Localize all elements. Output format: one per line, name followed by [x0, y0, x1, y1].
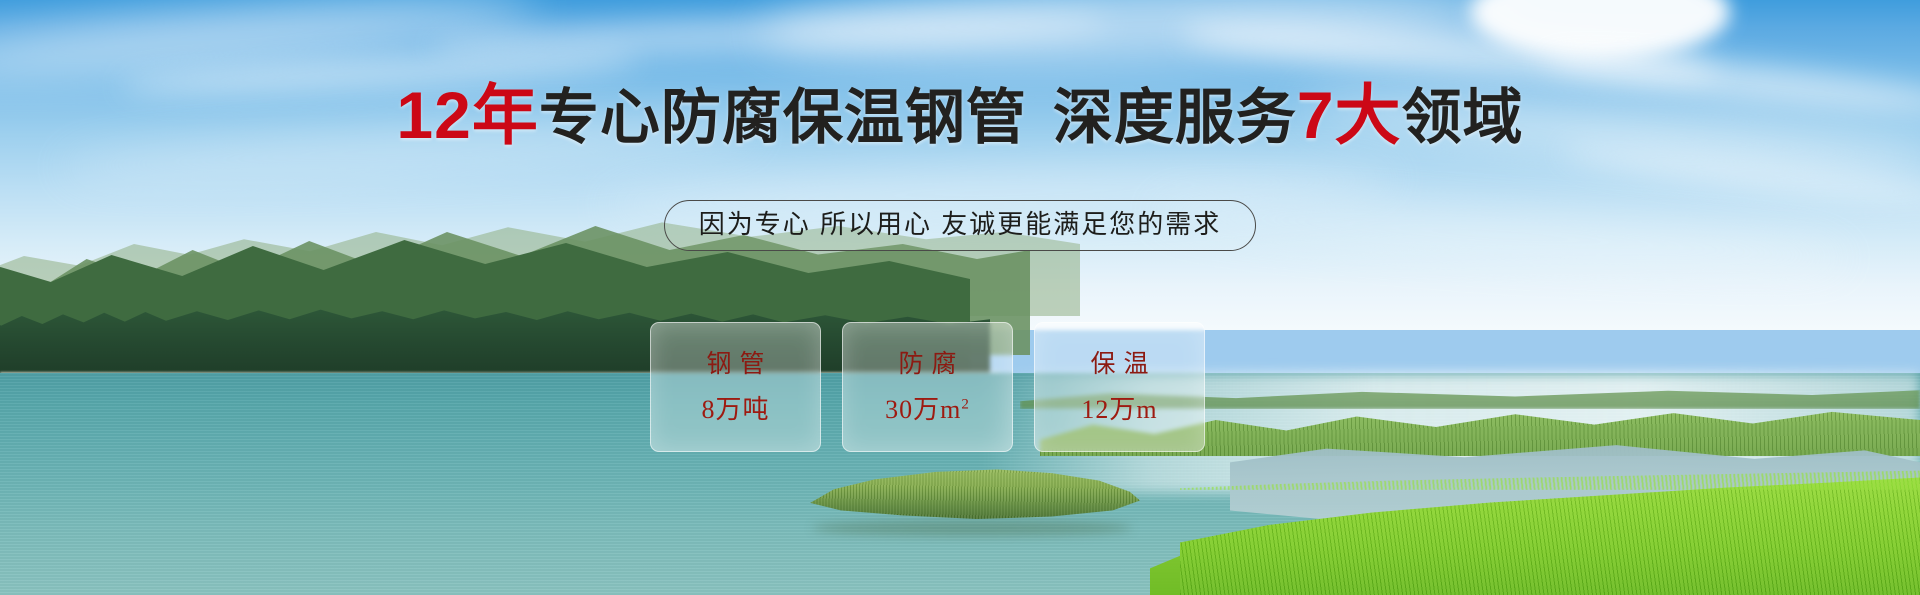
- headline-segment-1: 专心防腐保温钢管: [539, 84, 1027, 151]
- stat-value-text: 8万吨: [701, 395, 769, 424]
- stat-card-steel-pipe: 钢管 8万吨: [650, 322, 821, 452]
- subtitle-container: 因为专心 所以用心 友诚更能满足您的需求: [0, 200, 1920, 251]
- stat-value-text: 12万m: [1081, 395, 1157, 424]
- headline-segment-3: 领域: [1402, 84, 1524, 151]
- stat-value-superscript: 2: [961, 396, 970, 412]
- headline-accent-fields: 7大: [1297, 78, 1402, 152]
- stat-card-anticorrosion: 防腐 30万m2: [842, 322, 1013, 452]
- headline-segment-2: 深度服务: [1053, 84, 1297, 151]
- subtitle-pill: 因为专心 所以用心 友诚更能满足您的需求: [664, 200, 1256, 251]
- promo-banner: 12年专心防腐保温钢管深度服务7大领域 因为专心 所以用心 友诚更能满足您的需求…: [0, 0, 1920, 595]
- stat-card-insulation: 保温 12万m: [1034, 322, 1205, 452]
- headline: 12年专心防腐保温钢管深度服务7大领域: [0, 82, 1920, 148]
- stat-card-title: 钢管: [698, 352, 772, 377]
- stat-card-value: 30万m2: [885, 397, 970, 423]
- stat-card-group: 钢管 8万吨 防腐 30万m2 保温 12万m: [650, 322, 1205, 452]
- stat-card-title: 防腐: [890, 352, 964, 377]
- headline-accent-years: 12年: [396, 78, 538, 152]
- stat-card-title: 保温: [1082, 352, 1156, 377]
- stat-card-value: 8万吨: [701, 397, 769, 423]
- banner-content: 12年专心防腐保温钢管深度服务7大领域 因为专心 所以用心 友诚更能满足您的需求…: [0, 0, 1920, 595]
- stat-card-value: 12万m: [1081, 397, 1157, 423]
- stat-value-text: 30万m: [885, 395, 961, 424]
